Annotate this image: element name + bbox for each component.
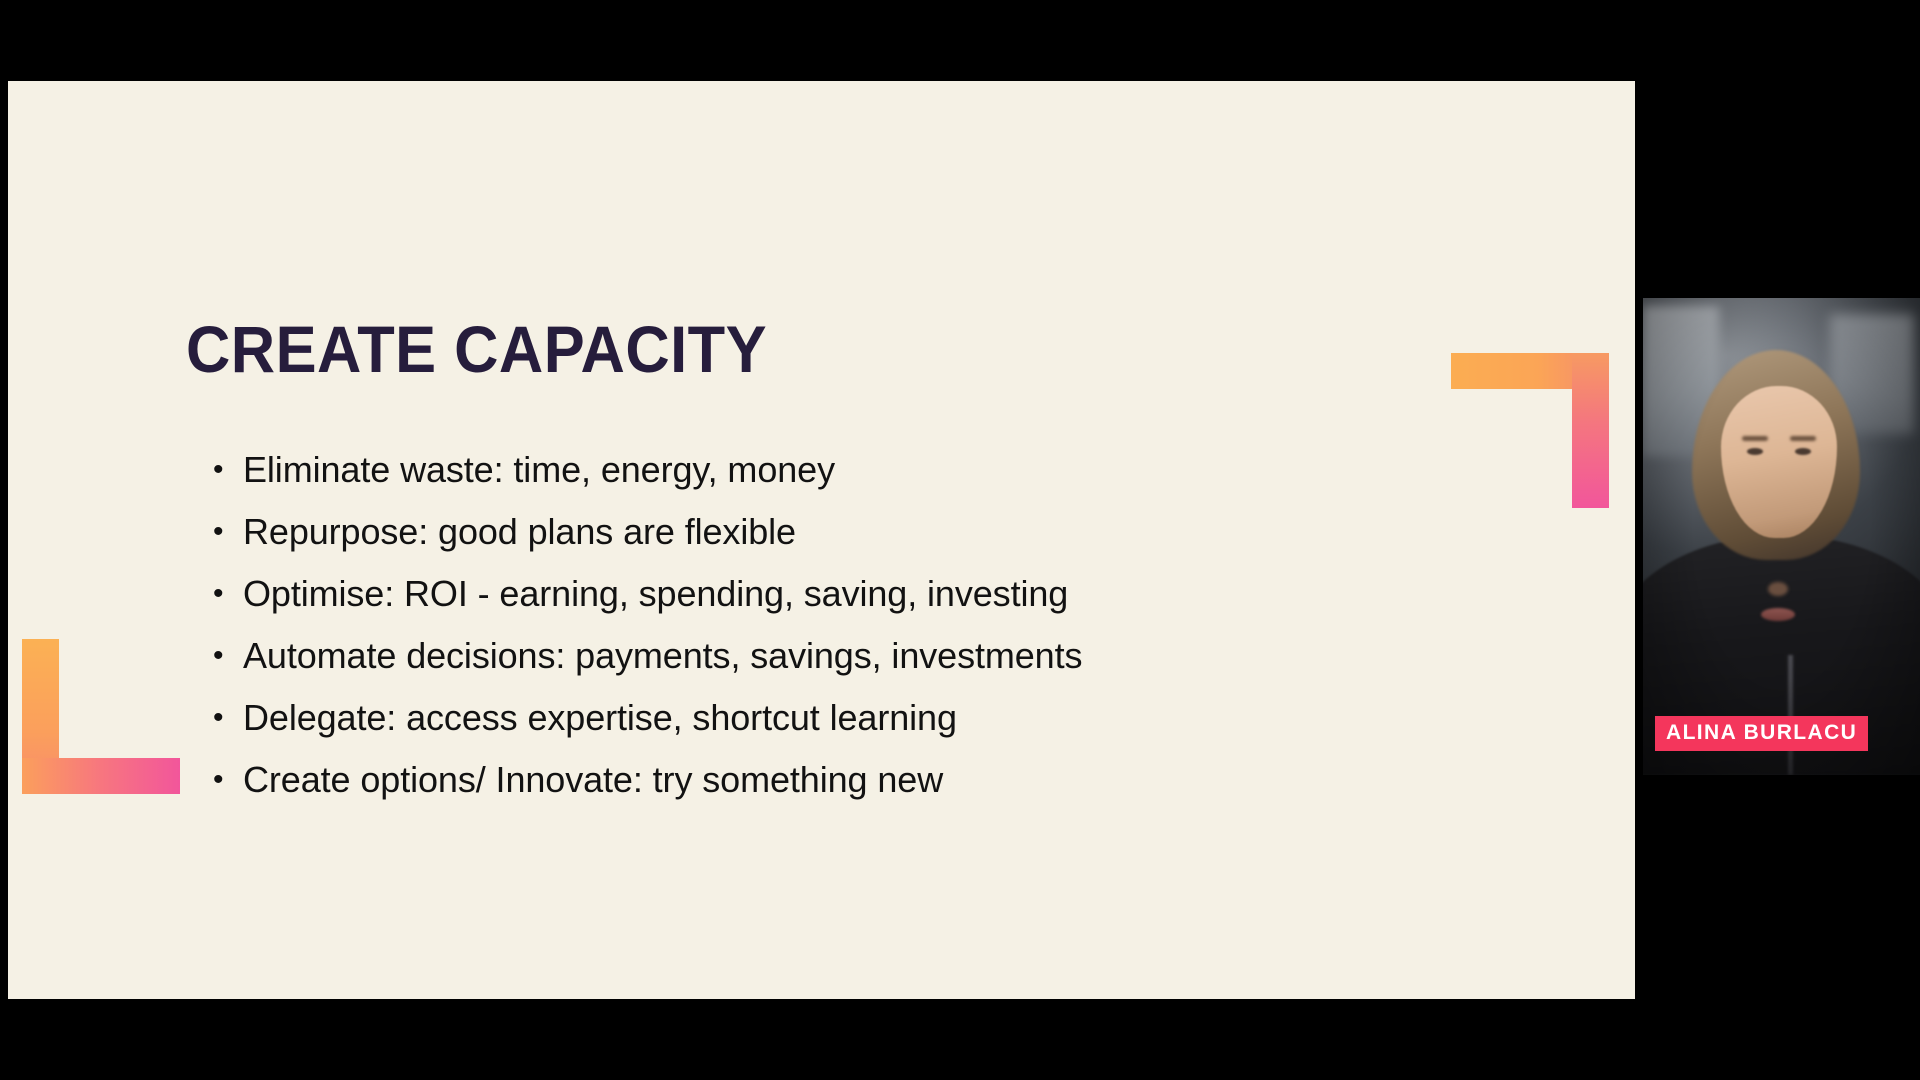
bullet-marker-icon: • [213, 517, 243, 547]
speaker-video-tile[interactable]: ALINA BURLACU [1643, 298, 1920, 775]
slide-title: CREATE CAPACITY [186, 311, 767, 387]
bullet-item: • Repurpose: good plans are flexible [213, 513, 1413, 575]
speaker-name-badge: ALINA BURLACU [1655, 716, 1868, 751]
bullet-text: Eliminate waste: time, energy, money [243, 451, 835, 490]
corner-bracket-top-right-icon [1451, 353, 1609, 508]
bullet-item: • Automate decisions: payments, savings,… [213, 637, 1413, 699]
bullet-item: • Optimise: ROI - earning, spending, sav… [213, 575, 1413, 637]
bullet-item: • Create options/ Innovate: try somethin… [213, 761, 1413, 823]
bullet-text: Delegate: access expertise, shortcut lea… [243, 699, 957, 738]
bullet-marker-icon: • [213, 765, 243, 795]
slide-canvas: CREATE CAPACITY • Eliminate waste: time,… [8, 81, 1635, 999]
speaker-video-frame [1643, 298, 1920, 775]
bullet-item: • Eliminate waste: time, energy, money [213, 451, 1413, 513]
corner-bracket-bottom-left-icon [22, 639, 180, 794]
bracket-arm-vertical [1572, 353, 1609, 508]
bullet-text: Automate decisions: payments, savings, i… [243, 637, 1082, 676]
presentation-stage: CREATE CAPACITY • Eliminate waste: time,… [0, 0, 1920, 1080]
slide-bullet-list: • Eliminate waste: time, energy, money •… [213, 451, 1413, 823]
video-vignette [1643, 298, 1920, 775]
bullet-text: Repurpose: good plans are flexible [243, 513, 796, 552]
bullet-marker-icon: • [213, 579, 243, 609]
bullet-marker-icon: • [213, 641, 243, 671]
bullet-marker-icon: • [213, 455, 243, 485]
bullet-text: Optimise: ROI - earning, spending, savin… [243, 575, 1068, 614]
bullet-marker-icon: • [213, 703, 243, 733]
bullet-item: • Delegate: access expertise, shortcut l… [213, 699, 1413, 761]
bracket-arm-horizontal [22, 758, 180, 794]
bullet-text: Create options/ Innovate: try something … [243, 761, 943, 800]
